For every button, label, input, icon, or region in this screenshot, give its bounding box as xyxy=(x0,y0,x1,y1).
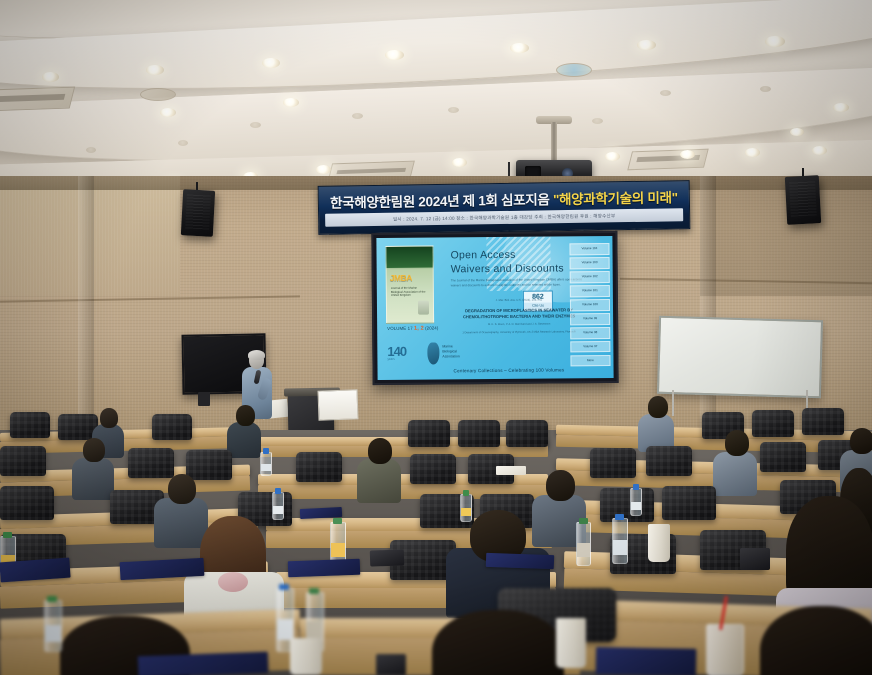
banner-subtitle-strip: 일시 : 2024. 7. 12 (금) 14:00 장소 : 한국해양과학기술… xyxy=(325,208,683,227)
article-title: DEGRADATION OF MICROPLASTICS IN SEAWATER… xyxy=(455,307,583,319)
downlight xyxy=(385,50,404,60)
journal-volume-year: (2024) xyxy=(425,325,438,330)
downlight-dim xyxy=(352,113,363,119)
sidebar-item[interactable]: Volume 103 xyxy=(570,257,610,269)
downlight xyxy=(680,150,695,159)
bottle-cap xyxy=(275,488,281,494)
bottle-cap xyxy=(615,514,624,520)
downlight xyxy=(790,128,804,136)
downlight-dim xyxy=(178,140,188,146)
downlight xyxy=(833,103,849,112)
bottle-cap xyxy=(333,518,342,524)
downlight-dim xyxy=(592,118,603,124)
attendee-head xyxy=(725,430,749,456)
bottle-label xyxy=(631,502,641,511)
article-citation-line: J. Mar. Biol. Ass. U.K. (2024), 104, e62 xyxy=(455,298,583,303)
hair-scrunchie xyxy=(218,572,248,592)
journal-cover-title: JMBA xyxy=(390,273,430,283)
attendee-head xyxy=(236,405,255,426)
attendee-torso xyxy=(776,588,872,648)
ceiling-vent-2 xyxy=(556,63,592,77)
bottle-cap xyxy=(3,532,12,538)
paper-cup xyxy=(648,524,670,562)
attendee-head xyxy=(546,470,575,501)
slide-heading: Open Access Waivers and Discounts xyxy=(450,247,564,276)
juice-bottle xyxy=(460,494,472,522)
chair xyxy=(802,408,844,435)
bottle-label xyxy=(273,506,283,515)
card-reader xyxy=(740,548,770,570)
bottle-cap xyxy=(579,518,588,524)
downlight xyxy=(812,146,827,155)
attendee-head xyxy=(648,396,668,418)
wall-display-mount xyxy=(198,392,210,406)
water-bottle xyxy=(260,452,272,476)
slide-heading-line-1: Open Access xyxy=(450,247,563,262)
mba-logo-line-3: Association xyxy=(442,355,459,360)
banner-title-highlight: "해양과학기술의 미래" xyxy=(553,190,678,207)
journal-cover: JMBA Journal of the Marine Biological As… xyxy=(385,246,434,324)
downlight xyxy=(42,72,59,82)
attendee-torso xyxy=(227,422,261,458)
wall-seam-horizontal xyxy=(0,295,300,302)
presenter-hair xyxy=(248,350,265,360)
chair xyxy=(506,420,548,447)
journal-cover-band xyxy=(386,247,432,269)
chair xyxy=(408,420,450,447)
downlight-dim xyxy=(448,107,459,113)
attendee-torso xyxy=(72,458,114,500)
downlight xyxy=(605,152,620,161)
chair xyxy=(410,454,456,484)
attendee-head xyxy=(368,438,392,464)
bottle-label xyxy=(577,543,590,557)
chair xyxy=(0,446,46,476)
attendee-head xyxy=(168,474,196,504)
downlight-dim xyxy=(760,86,771,92)
slide-heading-line-2: Waivers and Discounts xyxy=(451,262,564,277)
sidebar-item[interactable]: Volume 99 xyxy=(570,313,610,325)
wall-speaker-left xyxy=(181,189,215,237)
downlight xyxy=(510,43,529,53)
slide-article-block: J. Mar. Biol. Ass. U.K. (2024), 104, e62… xyxy=(455,298,583,335)
chair xyxy=(10,412,50,438)
journal-volume-number: 1, 2 xyxy=(414,326,424,332)
chair xyxy=(752,410,794,437)
ceiling xyxy=(0,0,872,200)
journal-volume-line: VOLUME 17 1, 2 (2024) xyxy=(387,325,438,331)
chair xyxy=(186,450,232,480)
banner-subtitle: 일시 : 2024. 7. 12 (금) 14:00 장소 : 한국해양과학기술… xyxy=(325,208,683,227)
water-bottle xyxy=(630,488,642,516)
chair xyxy=(458,420,500,447)
journal-volume-prefix: VOLUME 17 xyxy=(387,326,413,331)
whiteboard xyxy=(657,316,823,399)
lecture-hall-photo: 한국해양한림원 2024년 제 1회 심포지음 "해양과학기술의 미래" 일시 … xyxy=(0,0,872,675)
sidebar-item[interactable]: Volume 97 xyxy=(570,341,610,353)
bottle-label xyxy=(331,543,345,557)
sidebar-item[interactable]: Volume 100 xyxy=(570,299,610,311)
coffee-bottle xyxy=(576,522,591,566)
chair xyxy=(0,486,54,520)
downlight xyxy=(316,165,331,174)
article-affiliations: 1 Department of Oceanography, University… xyxy=(455,330,583,335)
journal-cover-subtitle: Journal of the Marine Biological Associa… xyxy=(391,287,429,298)
smartphone xyxy=(370,549,405,566)
downlight xyxy=(262,58,280,68)
chair xyxy=(590,448,636,478)
program-booklet xyxy=(486,553,554,569)
banner-title-plain: 한국해양한림원 2024년 제 1회 심포지음 xyxy=(330,192,553,211)
downlight xyxy=(637,40,656,50)
projection-screen: JMBA Journal of the Marine Biological As… xyxy=(371,231,618,385)
event-banner: 한국해양한림원 2024년 제 1회 심포지음 "해양과학기술의 미래" 일시 … xyxy=(318,180,691,235)
sidebar-item[interactable]: Volume 104 xyxy=(569,243,609,255)
printed-handout xyxy=(496,466,526,475)
downlight xyxy=(745,148,760,157)
chair xyxy=(296,452,342,482)
sidebar-item[interactable]: Volume 101 xyxy=(570,285,610,297)
bottle-label xyxy=(461,508,471,517)
program-booklet xyxy=(288,559,361,578)
downlight-dim xyxy=(250,122,261,128)
attendee-torso xyxy=(154,498,208,548)
chair xyxy=(760,442,806,472)
slide-body-text: The Journal of the Marine Biological Ass… xyxy=(451,277,587,287)
attendee-torso xyxy=(713,452,757,496)
wall-pillar-right xyxy=(700,176,716,446)
wall-pillar-left xyxy=(78,176,94,446)
journal-cover-seal xyxy=(418,301,429,315)
wall-speaker-right xyxy=(785,175,821,225)
ac-diffuser-right xyxy=(627,149,708,171)
attendee-head xyxy=(100,408,118,428)
bottle-label xyxy=(613,540,627,555)
bottle-cap xyxy=(633,484,639,490)
downlight xyxy=(283,98,299,107)
bottle-cap xyxy=(463,490,469,496)
bottle-cap xyxy=(263,448,269,454)
sidebar-item[interactable]: Volume 102 xyxy=(570,271,610,283)
downlight-dim xyxy=(86,147,96,153)
attendee-torso xyxy=(357,459,401,503)
downlight xyxy=(452,158,467,167)
whiteboard-leg-left xyxy=(672,390,674,416)
sidebar-item[interactable]: Volume 98 xyxy=(570,327,610,339)
bottle-label xyxy=(261,464,271,471)
slide-footer: Centenary Collections – Celebrating 100 … xyxy=(454,367,565,373)
slide-volume-sidebar: Volume 104 Volume 103 Volume 102 Volume … xyxy=(569,243,610,369)
chair xyxy=(646,446,692,476)
mba-seahorse-icon xyxy=(427,342,439,364)
chair xyxy=(152,414,192,440)
article-byline: M. K. S. Moon, P. A. D. Marchand and J. … xyxy=(455,322,583,327)
attendee-head xyxy=(850,428,872,454)
chair xyxy=(128,448,174,478)
downlight xyxy=(160,108,176,117)
water-bottle xyxy=(612,518,628,564)
desk-row-far xyxy=(248,437,548,446)
downlight-dim xyxy=(660,90,671,96)
chair xyxy=(662,486,716,520)
water-bottle xyxy=(272,492,284,520)
anniversary-140-logo: 140 years xyxy=(387,344,406,361)
ac-diffuser-left xyxy=(0,87,75,112)
flipchart-board xyxy=(317,389,358,420)
downlight xyxy=(765,36,785,47)
ceiling-vent-1 xyxy=(140,88,176,101)
chair xyxy=(600,488,654,522)
mba-logo-text: Marine Biological Association xyxy=(442,344,459,359)
downlight xyxy=(146,65,164,75)
projected-slide: JMBA Journal of the Marine Biological As… xyxy=(376,236,613,380)
sidebar-item[interactable]: More xyxy=(570,355,610,367)
attendee-head xyxy=(83,438,105,462)
projector-pole xyxy=(551,122,557,164)
